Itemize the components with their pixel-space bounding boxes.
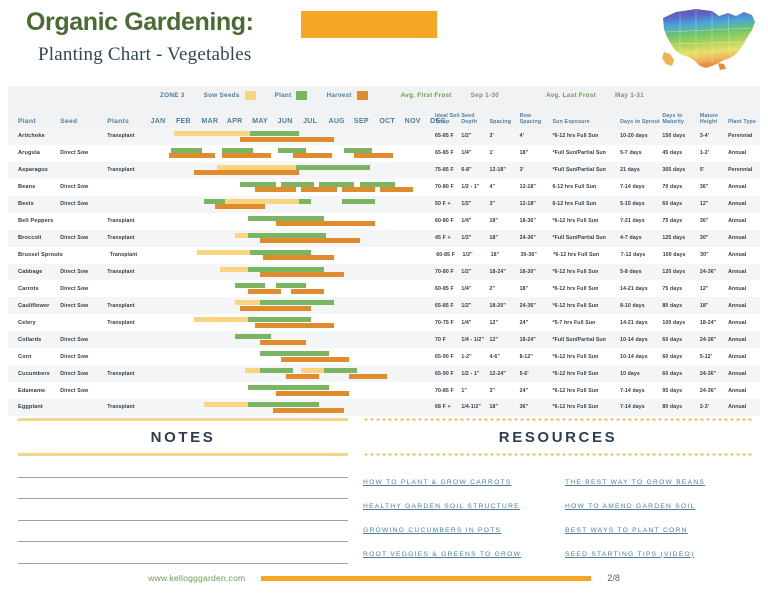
cell-seed-depth: 1/2" — [461, 303, 489, 309]
note-line[interactable] — [18, 563, 348, 564]
cell-soil-temp: 75-85 F — [435, 167, 461, 173]
resource-link[interactable]: ROOT VEGGIES & GREENS TO GROW — [363, 542, 551, 566]
cell-plant-type: Annual — [728, 218, 760, 224]
cell-mature-height: 3-4' — [700, 133, 728, 139]
cell-plants-method: Transplant — [107, 269, 148, 275]
cell-seed-depth: 1/4" — [461, 320, 489, 326]
cell-plants-method: Transplant — [107, 235, 148, 241]
cell-mature-height: 30" — [700, 252, 728, 258]
timeline-bar-harvest — [291, 289, 324, 294]
timeline-bar-plant — [250, 250, 311, 255]
timeline-bar-plant — [222, 148, 253, 153]
cell-days-to-maturity: 70 days — [662, 184, 700, 190]
cell-spacing: 12-24" — [490, 371, 520, 377]
cell-spacing: 18" — [490, 404, 520, 410]
legend-first-frost-label: Avg. First Frost — [401, 92, 452, 99]
timeline-bar-harvest — [281, 357, 350, 362]
cell-plants-method: Transplant — [107, 133, 148, 139]
cell-plants-method: Transplant — [107, 404, 148, 410]
cell-plant-name: Beets — [8, 201, 60, 207]
cell-row-spacing: 24" — [520, 388, 553, 394]
cell-spacing: 3' — [490, 133, 520, 139]
cell-sun-exposure: *6-12 hrs Full Sun — [552, 404, 620, 410]
timeline-bar-harvest — [276, 391, 350, 396]
cell-plant-name: Corn — [8, 354, 60, 360]
header-type: Plant Type — [728, 119, 760, 125]
cell-plant-name: Arugula — [8, 150, 60, 156]
cell-soil-temp: 70-75 F — [435, 320, 461, 326]
cell-days-to-sprout: 7-14 days — [620, 388, 662, 394]
timeline-bar-plant — [250, 131, 298, 136]
cell-plant-name: Cabbage — [8, 269, 60, 275]
cell-row-spacing: 5-6' — [520, 371, 553, 377]
cell-days-to-maturity: 150 days — [662, 133, 700, 139]
timeline-bar-plant — [248, 385, 329, 390]
cell-mature-height: 24-36" — [700, 371, 728, 377]
month-label-aug: AUG — [328, 118, 344, 125]
cell-soil-temp: 60-85 F — [436, 252, 462, 258]
cell-soil-temp: 65-85 F — [435, 303, 461, 309]
timeline-bar-harvest — [349, 374, 387, 379]
cell-row-spacing: 4' — [520, 133, 553, 139]
cell-row-spacing: 8-12" — [520, 354, 553, 360]
resource-link[interactable]: SEED STARTING TIPS (VIDEO) — [565, 542, 753, 566]
cell-soil-temp: 70-80 F — [435, 269, 461, 275]
cell-plant-name: Carrots — [8, 286, 60, 292]
legend-harvest-swatch — [357, 91, 368, 100]
note-line[interactable] — [18, 477, 348, 478]
cell-seed-depth: 1-2" — [461, 354, 489, 360]
cell-row-spacing: 24-36" — [520, 235, 553, 241]
timeline-bar-harvest — [255, 323, 334, 328]
cell-seed-depth: 1/4" — [461, 150, 489, 156]
cell-plant-type: Perennial — [728, 133, 760, 139]
cell-month-timeline — [149, 264, 435, 281]
cell-days-to-maturity: 80 days — [662, 303, 700, 309]
timeline-bar-harvest — [260, 272, 344, 277]
legend-harvest-label: Harvest — [326, 92, 351, 99]
cell-plant-name: Broccoli — [8, 235, 60, 241]
cell-plant-type: Annual — [728, 303, 760, 309]
cell-sun-exposure: 6-12 hrs Full Sun — [552, 201, 620, 207]
cell-mature-height: 24-36" — [700, 337, 728, 343]
header-plants: Plants — [107, 119, 148, 125]
cell-spacing: 3" — [490, 388, 520, 394]
timeline-bar-harvest — [240, 306, 311, 311]
cell-plant-name: Bell Peppers — [8, 218, 60, 224]
header-sun: Sun Exposure — [552, 119, 620, 125]
header-spacing: Spacing — [490, 119, 520, 125]
cell-sun-exposure: *Full Sun/Partial Sun — [552, 167, 620, 173]
cell-spacing: 18-20" — [490, 303, 520, 309]
month-header-strip: JANFEBMARAPRMAYJUNJULAUGSEPOCTNOVDEC — [149, 104, 435, 125]
legend-sow-seeds-swatch — [245, 91, 256, 100]
cell-seed-depth: 1/4" — [461, 218, 489, 224]
cell-plant-name: Asparagus — [8, 167, 60, 173]
cell-seed-depth: 1/2 - 1" — [461, 184, 489, 190]
cell-plant-name: Brussel Sprouts — [8, 252, 63, 258]
cell-seed-depth: 1/4" — [461, 286, 489, 292]
cell-days-to-maturity: 60 days — [662, 201, 700, 207]
timeline-bar-plant — [171, 148, 202, 153]
cell-seed-depth: 1/4-1/2" — [461, 404, 489, 410]
cell-spacing: 4-6" — [490, 354, 520, 360]
cell-plant-type: Annual — [728, 337, 760, 343]
cell-plant-type: Annual — [728, 354, 760, 360]
cell-spacing: 18" — [491, 252, 521, 258]
cell-soil-temp: 65-90 F — [435, 371, 461, 377]
cell-plant-type: Annual — [728, 404, 760, 410]
cell-row-spacing: 18" — [520, 286, 553, 292]
cell-month-timeline — [149, 162, 435, 179]
page-header: Organic Gardening: Planting Chart - Vege… — [0, 0, 768, 86]
resources-link-grid: HOW TO PLANT & GROW CARROTSTHE BEST WAY … — [363, 456, 753, 566]
cell-month-timeline — [149, 348, 435, 365]
cell-seed-depth: 1/2" — [461, 133, 489, 139]
header-maturity: Days to Maturity — [662, 113, 700, 125]
cell-plants-method: Transplant — [107, 218, 148, 224]
table-row: Bell PeppersTransplant60-80 F1/4"18"18-3… — [8, 213, 760, 230]
cell-plant-type: Annual — [728, 371, 760, 377]
cell-row-spacing: 18-24" — [520, 337, 553, 343]
cell-plant-name: Beans — [8, 184, 60, 190]
cell-mature-height: 5-12' — [700, 354, 728, 360]
timeline-bar-harvest — [240, 137, 334, 142]
timeline-bar-plant — [342, 199, 375, 204]
month-label-jun: JUN — [278, 118, 293, 125]
cell-days-to-maturity: 125 days — [662, 235, 700, 241]
cell-row-spacing: 18-36" — [520, 218, 553, 224]
cell-plant-type: Annual — [728, 252, 760, 258]
resource-link[interactable]: BEST WAYS TO PLANT CORN — [565, 518, 753, 542]
cell-soil-temp: 60-80 F — [435, 218, 461, 224]
cell-seed-depth: 1/2" — [461, 269, 489, 275]
table-row: EdamameDirect Sow70-85 F1"3"24"*6-12 hrs… — [8, 382, 760, 399]
note-line[interactable] — [18, 541, 348, 542]
timeline-bar-harvest — [380, 187, 413, 192]
header-plant: Plant — [8, 119, 60, 125]
cell-sun-exposure: *Full Sun/Partial Sun — [552, 235, 620, 241]
timeline-bar-plant — [276, 283, 307, 288]
cell-sun-exposure: *6-12 hrs Full Sun — [552, 388, 620, 394]
cell-row-spacing: 30-36" — [521, 252, 554, 258]
cell-seed-method: Direct Sow — [60, 184, 107, 190]
note-line[interactable] — [18, 520, 348, 521]
cell-seed-method: Direct Sow — [60, 201, 107, 207]
legend-sow-seeds-label: Sow Seeds — [204, 92, 240, 99]
planting-table: Plant Seed Plants JANFEBMARAPRMAYJUNJULA… — [8, 104, 760, 416]
resource-link[interactable]: THE BEST WAY TO GROW BEANS — [565, 470, 753, 494]
cell-sun-exposure: *6-12 hrs Full Sun — [552, 133, 620, 139]
cell-plants-method: Transplant — [107, 303, 148, 309]
cell-month-timeline — [149, 230, 435, 247]
cell-days-to-sprout: 14-21 days — [620, 320, 662, 326]
header-seed: Seed — [60, 119, 107, 125]
table-row: CabbageDirect SowTransplant70-80 F1/2"18… — [8, 264, 760, 281]
cell-days-to-maturity: 45 days — [662, 150, 700, 156]
footer-orange-bar — [261, 576, 591, 581]
cell-days-to-maturity: 60 days — [662, 337, 700, 343]
cell-days-to-maturity: 60 days — [662, 354, 700, 360]
month-label-mar: MAR — [201, 118, 218, 125]
cell-days-to-maturity: 75 days — [662, 286, 700, 292]
resource-link[interactable]: HOW TO PLANT & GROW CARROTS — [363, 470, 551, 494]
month-label-jul: JUL — [303, 118, 317, 125]
cell-days-to-sprout: 5-8 days — [620, 269, 662, 275]
table-row: CollardsDirect Sow70 F1/4 - 1/2"12"18-24… — [8, 331, 760, 348]
cell-sun-exposure: *6-12 hrs Full Sun — [552, 269, 620, 275]
cell-days-to-sprout: 5-15 days — [620, 201, 662, 207]
timeline-bar-harvest — [169, 153, 215, 158]
cell-sun-exposure: *6-12 hrs Full Sun — [552, 286, 620, 292]
cell-seed-depth: 6-8" — [461, 167, 489, 173]
cell-month-timeline — [149, 128, 435, 145]
cell-plant-type: Annual — [728, 235, 760, 241]
timeline-bar-harvest — [286, 374, 319, 379]
header-sprout: Days to Sprout — [620, 119, 662, 125]
cell-sun-exposure: *6-12 hrs Full Sun — [552, 371, 620, 377]
cell-seed-method: Direct Sow — [60, 286, 107, 292]
cell-seed-depth: 1/2" — [461, 235, 489, 241]
timeline-bar-harvest — [194, 170, 298, 175]
note-line[interactable] — [18, 498, 348, 499]
table-row: CornDirect Sow65-90 F1-2"4-6"8-12"*6-12 … — [8, 348, 760, 365]
table-row: CauliflowerDirect SowTransplant65-85 F1/… — [8, 297, 760, 314]
timeline-bar-plant — [360, 182, 396, 187]
timeline-bar-plant — [248, 317, 312, 322]
cell-soil-temp: 70 F — [435, 337, 461, 343]
legend-plant-swatch — [296, 91, 307, 100]
table-body: ArtichokeTransplant65-85 F1/2"3'4'*6-12 … — [8, 128, 760, 416]
cell-sun-exposure: *Full Sun/Partial Sun — [552, 150, 620, 156]
cell-row-spacing: 24-36" — [520, 303, 553, 309]
cell-row-spacing: 24" — [520, 320, 553, 326]
cell-soil-temp: 70-85 F — [435, 388, 461, 394]
cell-month-timeline — [149, 331, 435, 348]
timeline-bar-harvest — [273, 408, 344, 413]
usda-hardiness-zone-map-icon — [656, 2, 760, 74]
cell-mature-height: 24-36" — [700, 269, 728, 275]
cell-plant-type: Annual — [728, 269, 760, 275]
cell-month-timeline — [149, 280, 435, 297]
cell-seed-method: Direct Sow — [60, 269, 107, 275]
cell-soil-temp: 50 F + — [435, 201, 461, 207]
footer-website-url[interactable]: www.kellogggarden.com — [148, 573, 245, 583]
cell-mature-height: 24-36" — [700, 388, 728, 394]
cell-row-spacing: 18-30" — [520, 269, 553, 275]
cell-month-timeline — [149, 382, 435, 399]
timeline-bar-plant — [248, 267, 324, 272]
cell-sun-exposure: *6-12 hrs Full Sun — [553, 252, 620, 258]
cell-soil-temp: 45 F + — [435, 235, 461, 241]
resource-link[interactable]: HOW TO AMEND GARDEN SOIL — [565, 494, 753, 518]
cell-row-spacing: 3' — [520, 167, 553, 173]
cell-seed-method: Direct Sow — [60, 354, 107, 360]
notes-bottom-rule — [18, 453, 348, 456]
cell-sun-exposure: *5-7 hrs Full Sun — [552, 320, 620, 326]
cell-month-timeline — [149, 314, 435, 331]
timeline-bar-harvest — [342, 187, 375, 192]
timeline-bar-plant — [324, 368, 357, 373]
legend-first-frost-value: Sep 1-30 — [471, 92, 499, 99]
cell-days-to-maturity: 75 days — [662, 218, 700, 224]
cell-plant-name: Cauliflower — [8, 303, 60, 309]
cell-days-to-sprout: 10 days — [620, 371, 662, 377]
cell-mature-height: 18" — [700, 303, 728, 309]
cell-month-timeline — [149, 297, 435, 314]
cell-days-to-maturity: 100 days — [663, 252, 700, 258]
timeline-bar-seed — [174, 131, 255, 136]
timeline-bar-plant — [235, 283, 266, 288]
cell-plants-method: Transplant — [107, 320, 148, 326]
cell-plants-method: Transplant — [107, 167, 148, 173]
cell-spacing: 18" — [490, 235, 520, 241]
cell-mature-height: 36" — [700, 218, 728, 224]
orange-accent-block — [301, 11, 437, 38]
cell-spacing: 12" — [490, 320, 520, 326]
cell-days-to-sprout: 10-14 days — [620, 337, 662, 343]
cell-month-timeline — [149, 196, 435, 213]
cell-plant-name: Artichoke — [8, 133, 60, 139]
header-seed-depth: Seed Depth — [461, 113, 489, 125]
cell-seed-method: Direct Sow — [60, 150, 107, 156]
legend-bar: ZONE 3 Sow Seeds Plant Harvest Avg. Firs… — [8, 86, 760, 104]
cell-plant-name: Celery — [8, 320, 60, 326]
cell-soil-temp: 65-90 F — [435, 354, 461, 360]
page-subtitle: Planting Chart - Vegetables — [38, 44, 251, 66]
cell-days-to-maturity: 365 days — [662, 167, 700, 173]
cell-row-spacing: 12-18" — [520, 184, 553, 190]
header-height: Mature Height — [700, 113, 728, 125]
cell-days-to-sprout: 14-21 days — [620, 286, 662, 292]
timeline-bar-harvest — [260, 340, 306, 345]
timeline-bar-harvest — [215, 204, 266, 209]
legend-last-frost-label: Avg. Last Frost — [546, 92, 596, 99]
table-row: AsparagusTransplant75-85 F6-8"12-18"3'*F… — [8, 162, 760, 179]
notes-writing-lines[interactable] — [18, 477, 348, 564]
timeline-bar-seed — [225, 199, 299, 204]
cell-mature-height: 36" — [700, 184, 728, 190]
timeline-bar-plant — [248, 216, 324, 221]
cell-spacing: 3" — [490, 201, 520, 207]
cell-plant-name: Collards — [8, 337, 60, 343]
cell-sun-exposure: *6-12 hrs Full Sun — [552, 303, 620, 309]
timeline-bar-harvest — [260, 238, 359, 243]
cell-soil-temp: 68 F + — [435, 404, 461, 410]
cell-sun-exposure: *Full Sun/Partial Sun — [552, 337, 620, 343]
cell-spacing: 4" — [490, 184, 520, 190]
cell-spacing: 12-18" — [490, 167, 520, 173]
cell-month-timeline — [149, 213, 435, 230]
month-label-jan: JAN — [151, 118, 166, 125]
timeline-bar-plant — [319, 182, 355, 187]
table-row: Brussel SproutsTransplant60-85 F1/2"18"3… — [8, 247, 760, 264]
cell-plants-method: Transplant — [110, 252, 151, 258]
cell-plants-method: Transplant — [107, 371, 148, 377]
cell-spacing: 12" — [490, 337, 520, 343]
timeline-bar-plant — [260, 351, 329, 356]
cell-spacing: 18-24" — [490, 269, 520, 275]
cell-seed-method: Direct Sow — [60, 303, 107, 309]
cell-plant-type: Annual — [728, 201, 760, 207]
timeline-bar-harvest — [248, 289, 281, 294]
month-label-feb: FEB — [176, 118, 191, 125]
cell-days-to-sprout: 4-7 days — [620, 235, 662, 241]
cell-month-timeline — [151, 247, 436, 264]
cell-days-to-sprout: 21 days — [620, 167, 662, 173]
cell-soil-temp: 65-85 F — [435, 150, 461, 156]
resources-section: RESOURCES HOW TO PLANT & GROW CARROTSTHE… — [363, 418, 753, 566]
timeline-bar-seed — [217, 165, 298, 170]
legend-last-frost-value: May 1-31 — [615, 92, 644, 99]
cell-plant-name: Eggplant — [8, 404, 60, 410]
timeline-bar-harvest — [276, 221, 375, 226]
cell-days-to-maturity: 100 days — [662, 320, 700, 326]
cell-sun-exposure: 6-12 hrs Full Sun — [552, 184, 620, 190]
table-row: CucumbersDirect SowTransplant65-90 F1/2 … — [8, 365, 760, 382]
table-row: BeetsDirect Sow50 F +1/2"3"12-18"6-12 hr… — [8, 196, 760, 213]
timeline-bar-plant — [235, 334, 271, 339]
cell-mature-height: 5' — [700, 167, 728, 173]
cell-seed-depth: 1" — [461, 388, 489, 394]
cell-month-timeline — [149, 179, 435, 196]
timeline-bar-plant — [260, 300, 334, 305]
cell-plant-type: Annual — [728, 286, 760, 292]
timeline-bar-plant — [260, 368, 293, 373]
resource-link[interactable]: HEALTHY GARDEN SOIL STRUCTURE — [363, 494, 551, 518]
timeline-bar-harvest — [293, 153, 331, 158]
resource-link[interactable]: GROWING CUCUMBERS IN POTS — [363, 518, 551, 542]
table-row: CeleryTransplant70-75 F1/4"12"24"*5-7 hr… — [8, 314, 760, 331]
timeline-bar-plant — [248, 233, 327, 238]
table-row: CarrotsDirect Sow60-85 F1/4"2"18"*6-12 h… — [8, 280, 760, 297]
table-row: BroccoliDirect SowTransplant45 F +1/2"18… — [8, 230, 760, 247]
cell-spacing: 1' — [490, 150, 520, 156]
cell-days-to-sprout: 10-14 days — [620, 354, 662, 360]
cell-spacing: 18" — [490, 218, 520, 224]
cell-seed-method: Direct Sow — [60, 235, 107, 241]
cell-days-to-sprout: 8-10 days — [620, 303, 662, 309]
cell-days-to-maturity: 95 days — [662, 388, 700, 394]
cell-soil-temp: 70-80 F — [435, 184, 461, 190]
cell-days-to-sprout: 10-20 days — [620, 133, 662, 139]
timeline-bar-plant — [296, 165, 370, 170]
cell-month-timeline — [149, 365, 435, 382]
cell-seed-method: Direct Sow — [60, 337, 107, 343]
cell-plant-type: Annual — [728, 150, 760, 156]
cell-days-to-sprout: 7-12 days — [621, 252, 663, 258]
table-row: BeansDirect Sow70-80 F1/2 - 1"4"12-18"6-… — [8, 179, 760, 196]
header-row-spacing: Row Spacing — [520, 113, 553, 125]
cell-seed-depth: 1/2" — [461, 201, 489, 207]
page-footer: www.kellogggarden.com 2/8 — [0, 573, 768, 583]
cell-sun-exposure: *6-12 hrs Full Sun — [552, 218, 620, 224]
cell-soil-temp: 65-85 F — [435, 133, 461, 139]
cell-plant-name: Cucumbers — [8, 371, 60, 377]
timeline-bar-plant — [240, 182, 276, 187]
table-header-row: Plant Seed Plants JANFEBMARAPRMAYJUNJULA… — [8, 104, 760, 128]
cell-month-timeline — [149, 145, 435, 162]
cell-mature-height: 12" — [700, 286, 728, 292]
cell-row-spacing: 18" — [520, 150, 553, 156]
month-label-apr: APR — [227, 118, 243, 125]
month-label-may: MAY — [252, 118, 268, 125]
cell-days-to-sprout: 7-21 days — [620, 218, 662, 224]
cell-plant-type: Annual — [728, 388, 760, 394]
cell-plant-type: Annual — [728, 320, 760, 326]
cell-seed-depth: 1/2 - 1" — [461, 371, 489, 377]
cell-mature-height: 18-24" — [700, 320, 728, 326]
